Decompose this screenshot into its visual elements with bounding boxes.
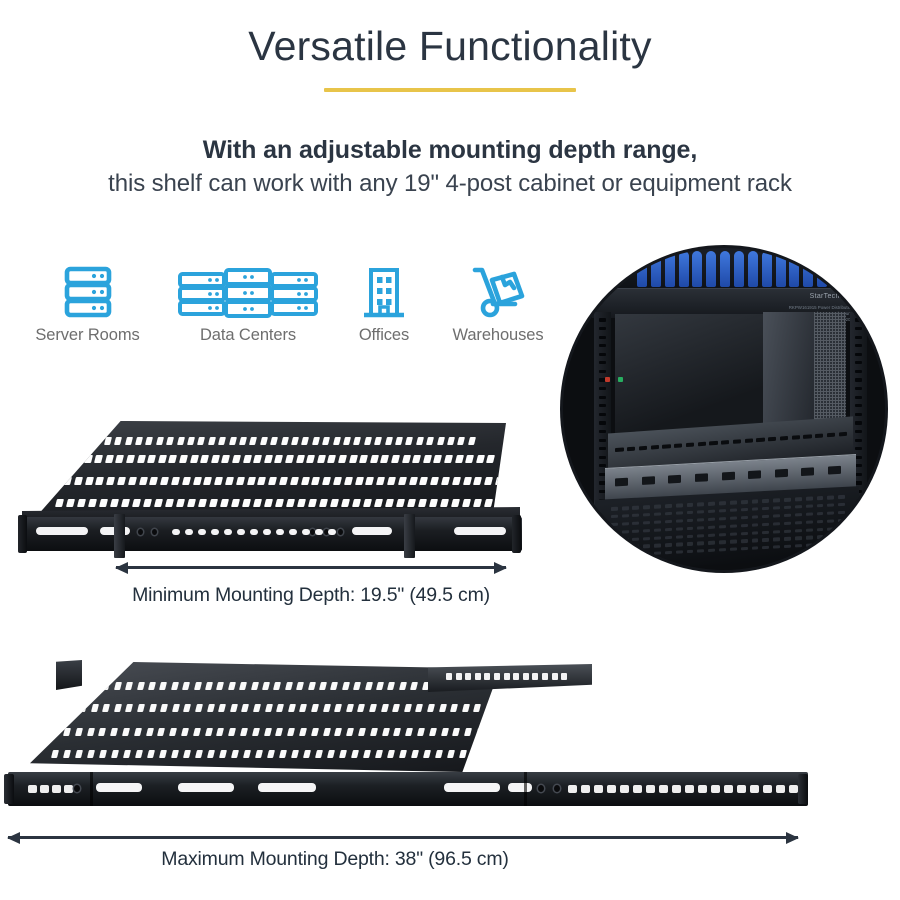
rail-perforation — [542, 673, 548, 680]
patch-cable — [637, 251, 647, 286]
shelf-vent — [768, 437, 776, 441]
perforation — [676, 527, 683, 531]
shelf-vent — [231, 499, 240, 507]
shelf-vent — [228, 728, 236, 736]
shelf-vent — [483, 750, 491, 758]
rail-perforation — [672, 785, 681, 793]
product-image-shelf-extended — [4, 650, 824, 810]
perforation — [806, 543, 813, 547]
shelf-vent — [179, 455, 188, 463]
rail-perforation — [456, 673, 462, 680]
shelf-vent — [416, 437, 424, 445]
shelf-vent — [183, 704, 191, 712]
perforation — [806, 512, 813, 516]
perforation — [763, 499, 770, 503]
patch-cable — [720, 251, 730, 286]
perforation — [687, 519, 694, 523]
shelf-vent — [429, 728, 437, 736]
rail-perforation — [607, 785, 616, 793]
perforation — [644, 529, 651, 533]
shelf-vent — [380, 455, 389, 463]
perforation — [773, 506, 780, 510]
perforation — [654, 512, 661, 516]
shelf-vent — [257, 477, 266, 485]
shelf-vent — [66, 499, 75, 507]
shelf-vent — [110, 499, 119, 507]
shelf-vent — [411, 750, 419, 758]
rail-slot — [695, 472, 708, 481]
rail-hole — [599, 439, 606, 442]
shelf-vent — [232, 455, 241, 463]
shelf-vent — [429, 499, 438, 507]
shelf-vent — [205, 682, 213, 690]
shelf-vent — [447, 437, 455, 445]
patch-cable — [734, 251, 744, 286]
perforation — [611, 530, 618, 534]
shelf-vent — [147, 455, 156, 463]
shelf-vent — [121, 499, 130, 507]
perforation — [622, 506, 629, 510]
shelf-vent — [91, 682, 99, 690]
shelf-vent — [252, 728, 260, 736]
shelf-vent — [441, 477, 450, 485]
rail-hole — [599, 430, 606, 433]
shelf-vent — [375, 750, 383, 758]
shelf-vent — [182, 682, 190, 690]
rail-slot — [444, 783, 500, 792]
shelf-vent — [216, 728, 224, 736]
data-center-icon — [168, 258, 328, 320]
shelf-vent — [484, 499, 493, 507]
use-case-offices: Offices — [332, 258, 436, 345]
shelf-vent — [343, 437, 351, 445]
shelf-vent — [459, 750, 467, 758]
perforation — [806, 505, 813, 509]
perforation — [730, 524, 737, 528]
shelf-vent — [249, 437, 257, 445]
rail-hole — [599, 413, 606, 416]
shelf-vent — [353, 437, 361, 445]
perforation — [817, 520, 824, 524]
rail-perforation — [40, 785, 49, 793]
shelf-vent — [242, 499, 251, 507]
rail-perforation — [776, 785, 785, 793]
shelf-vent — [209, 499, 218, 507]
shelf-vent — [358, 728, 366, 736]
shelf-vent — [51, 750, 59, 758]
patch-cable — [776, 251, 786, 286]
shelf-vent — [733, 439, 741, 443]
perforation — [633, 545, 640, 549]
shelf-vent — [264, 455, 273, 463]
perforation — [806, 520, 813, 524]
shelf-vent — [171, 750, 179, 758]
perforation — [773, 545, 780, 549]
perforation — [763, 546, 770, 550]
shelf-vent — [154, 499, 163, 507]
shelf-vent — [262, 682, 270, 690]
shelf-vent — [125, 437, 133, 445]
shelf-vent — [95, 477, 104, 485]
rail-perforation — [64, 785, 73, 793]
shelf-vent — [236, 477, 245, 485]
shelf-vent — [296, 455, 305, 463]
perforation — [687, 526, 694, 530]
rail-hole — [599, 421, 606, 424]
pdu-spec-1: RKPW161915 Power Distribution Unit — [789, 305, 863, 310]
perforation — [676, 511, 683, 515]
shelf-vent — [73, 455, 82, 463]
perforation — [665, 504, 672, 508]
perforation — [806, 536, 813, 540]
perforation — [676, 550, 683, 554]
arrow-head-right-icon — [786, 832, 799, 844]
perforation — [622, 553, 629, 557]
rail-hole — [855, 318, 862, 321]
shelf-vent — [452, 728, 460, 736]
rail-hole — [599, 370, 606, 373]
shelf-vent — [205, 728, 213, 736]
shelf-vent — [159, 750, 167, 758]
shelf-vent — [440, 499, 449, 507]
use-case-label: Warehouses — [438, 326, 558, 345]
shelf-vent — [93, 437, 101, 445]
perforation — [773, 530, 780, 534]
shelf-vent — [484, 477, 493, 485]
shelf-vent — [77, 499, 86, 507]
shelf-vent — [615, 448, 623, 452]
rail-hole — [855, 413, 862, 416]
shelf-vent — [243, 750, 251, 758]
shelf-vent — [88, 499, 97, 507]
perforation — [838, 534, 845, 538]
perforation — [719, 532, 726, 536]
shelf-vent — [268, 477, 277, 485]
shelf-vent — [450, 704, 458, 712]
shelf-vent — [146, 728, 154, 736]
perforation — [698, 502, 705, 506]
perforation — [698, 518, 705, 522]
shelf-vent — [105, 455, 114, 463]
shelf-bracket-right — [404, 514, 415, 558]
rail-hole — [855, 387, 862, 390]
shelf-vent — [417, 728, 425, 736]
rail-hole — [855, 447, 862, 450]
perforation — [665, 512, 672, 516]
shelf-vent — [344, 477, 353, 485]
shelf-vent — [99, 750, 107, 758]
shelf-vent — [168, 455, 177, 463]
perforation — [752, 539, 759, 543]
dimension-line — [116, 566, 506, 569]
shelf-vent — [149, 704, 157, 712]
rail-perforation — [620, 785, 629, 793]
shelf-vent — [382, 728, 390, 736]
shelf-vent — [299, 728, 307, 736]
patch-cable — [762, 251, 772, 286]
shelf-vent — [63, 477, 72, 485]
perforation — [676, 519, 683, 523]
shelf-vent — [198, 499, 207, 507]
patch-cable — [665, 251, 675, 286]
shelf-mounting-rail — [22, 517, 522, 551]
perforation — [817, 527, 824, 531]
perforation — [784, 506, 791, 510]
arrow-head-left-icon — [115, 562, 128, 574]
perforation — [644, 552, 651, 556]
server-rack-icon — [10, 258, 165, 320]
shelf-vent — [427, 704, 435, 712]
shelf-vent — [387, 682, 395, 690]
shelf-vent — [627, 447, 635, 451]
shelf-vent — [156, 437, 164, 445]
shelf-vent — [279, 750, 287, 758]
shelf-vent — [102, 704, 110, 712]
shelf-vent — [495, 477, 504, 485]
perforation — [687, 542, 694, 546]
shelf-vent — [239, 682, 247, 690]
shelf-vent — [187, 499, 196, 507]
perforation — [611, 546, 618, 550]
shelf-vent — [686, 443, 694, 447]
perforation — [828, 542, 835, 546]
shelf-vent — [240, 728, 248, 736]
shelf-vent — [473, 704, 481, 712]
rail-perforation — [737, 785, 746, 793]
use-case-server-rooms: Server Rooms — [10, 258, 165, 345]
rail-perforation — [211, 529, 219, 535]
shelf-vent — [221, 455, 230, 463]
shelf-vent — [273, 682, 281, 690]
rail-perforation — [475, 673, 481, 680]
rail-perforation — [484, 673, 490, 680]
perforation — [687, 550, 694, 554]
shelf-vent — [441, 728, 449, 736]
shelf-vent — [486, 455, 495, 463]
rail-hole — [338, 529, 343, 535]
rail-hole — [599, 447, 606, 450]
perforation — [741, 531, 748, 535]
shelf-vent — [111, 750, 119, 758]
shelf-vent — [104, 437, 112, 445]
shelf-vent — [158, 455, 167, 463]
photo-content: StarTech.com RKPW161915 Power Distributi… — [563, 248, 885, 570]
shelf-vent — [265, 704, 273, 712]
pdu-led-green — [618, 377, 623, 382]
shelf-vent — [407, 499, 416, 507]
shelf-vent — [285, 455, 294, 463]
shelf-endcap-left — [4, 774, 14, 804]
shelf-vent — [128, 477, 137, 485]
perforation — [633, 521, 640, 525]
shelf-vent — [319, 499, 328, 507]
rail-slot — [775, 468, 788, 477]
shelf-vent — [457, 437, 465, 445]
perforation — [817, 496, 824, 500]
shelf-vent — [290, 477, 299, 485]
shelf-vent — [193, 728, 201, 736]
perforation — [611, 554, 618, 558]
shelf-vent — [301, 437, 309, 445]
perforation — [644, 513, 651, 517]
shelf-vent-row — [56, 499, 518, 507]
shelf-vent — [327, 455, 336, 463]
shelf-vent — [639, 446, 647, 450]
shelf-vent — [322, 437, 330, 445]
perforation — [784, 545, 791, 549]
shelf-vent — [218, 704, 226, 712]
perforation — [708, 533, 715, 537]
shelf-vent — [55, 499, 64, 507]
use-case-icon-row: Server Rooms — [10, 258, 550, 368]
shelf-vent-row — [52, 750, 520, 758]
perforation — [784, 521, 791, 525]
shelf-vent — [79, 704, 87, 712]
shelf-vent — [395, 437, 403, 445]
shelf-vent — [312, 437, 320, 445]
perforation — [828, 503, 835, 507]
perforation — [752, 500, 759, 504]
perforation — [665, 543, 672, 547]
rail-slot — [36, 527, 88, 535]
shelf-endcap-right — [798, 774, 808, 804]
rail-hole — [855, 396, 862, 399]
perforation — [622, 538, 629, 542]
shelf-bracket-left — [114, 514, 125, 558]
perforation — [730, 532, 737, 536]
pdu-led-red — [605, 377, 610, 382]
rail-perforation — [523, 673, 529, 680]
shelf-vent — [339, 750, 347, 758]
perforation — [784, 537, 791, 541]
perforation — [795, 536, 802, 540]
rail-perforation — [789, 785, 798, 793]
perforation — [719, 509, 726, 513]
perforation — [633, 537, 640, 541]
shelf-vent — [134, 728, 142, 736]
rail-perforation — [289, 529, 297, 535]
perforation — [698, 526, 705, 530]
perforation — [665, 551, 672, 555]
shelf-vent — [137, 704, 145, 712]
shelf-vent — [476, 728, 484, 736]
shelf-vent — [160, 704, 168, 712]
perforation — [654, 544, 661, 548]
perforation — [708, 517, 715, 521]
shelf-vent — [317, 455, 326, 463]
shelf-vent — [355, 477, 364, 485]
shelf-vent — [308, 682, 316, 690]
shelf-vent — [473, 499, 482, 507]
shelf-vent — [435, 750, 443, 758]
shelf-vent — [264, 728, 272, 736]
perforation — [708, 510, 715, 514]
perforation — [752, 546, 759, 550]
shelf-vent — [393, 728, 401, 736]
shelf-vent — [148, 682, 156, 690]
shelf-vent — [439, 704, 447, 712]
shelf-vent — [74, 477, 83, 485]
rail-hole — [599, 404, 606, 407]
shelf-vent — [500, 728, 508, 736]
perforation — [773, 522, 780, 526]
perforation — [806, 528, 813, 532]
shelf-vent — [306, 455, 315, 463]
perforation — [687, 511, 694, 515]
rail-perforation — [581, 785, 590, 793]
shelf-vent — [412, 455, 421, 463]
shelf-vent — [145, 437, 153, 445]
shelf-vent — [447, 750, 455, 758]
shelf-vent — [471, 750, 479, 758]
shelf-vent — [225, 477, 234, 485]
product-feature-page: Versatile Functionality With an adjustab… — [0, 0, 900, 900]
perforation — [611, 507, 618, 511]
perforation — [828, 527, 835, 531]
shelf-vent — [462, 499, 471, 507]
rail-perforation — [250, 529, 258, 535]
perforation — [644, 544, 651, 548]
shelf-vent — [183, 750, 191, 758]
shelf-vent — [349, 455, 358, 463]
perforation — [838, 495, 845, 499]
perforation — [763, 515, 770, 519]
rail-perforation — [513, 673, 519, 680]
rail-hole — [599, 318, 606, 321]
shelf-vent-row — [74, 455, 498, 463]
shelf-vent — [63, 750, 71, 758]
rail-hole — [74, 785, 80, 792]
shelf-vent — [281, 437, 289, 445]
shelf-vent — [147, 750, 155, 758]
rail-perforation — [172, 529, 180, 535]
dimension-line — [8, 836, 798, 839]
rail-hole — [855, 439, 862, 442]
shelf-vent — [63, 728, 71, 736]
subtitle-line-2: this shelf can work with any 19" 4-post … — [0, 170, 900, 198]
rail-slot — [178, 783, 234, 792]
shelf-vent — [106, 477, 115, 485]
perforation — [795, 505, 802, 509]
shelf-vent — [363, 750, 371, 758]
perforation — [654, 536, 661, 540]
shelf-vent — [255, 750, 263, 758]
shelf-vent — [473, 477, 482, 485]
shelf-vent — [297, 499, 306, 507]
shelf-vent — [279, 477, 288, 485]
shelf-vent — [110, 728, 118, 736]
shelf-vent — [303, 750, 311, 758]
rail-perforation — [328, 529, 336, 535]
perforation — [784, 529, 791, 533]
shelf-vent — [381, 704, 389, 712]
perforation — [708, 541, 715, 545]
rail-hole — [855, 336, 862, 339]
rail-slot — [508, 783, 532, 792]
shelf-vent — [169, 728, 177, 736]
rail-slot — [352, 527, 392, 535]
perforation — [795, 521, 802, 525]
shelf-vent — [115, 455, 124, 463]
shelf-vent — [275, 728, 283, 736]
perforation — [752, 515, 759, 519]
shelf-vent — [230, 704, 238, 712]
rail-hole — [855, 327, 862, 330]
shelf-vent — [352, 499, 361, 507]
shelf-vent — [369, 704, 377, 712]
rail-perforation — [594, 785, 603, 793]
perforation — [741, 547, 748, 551]
